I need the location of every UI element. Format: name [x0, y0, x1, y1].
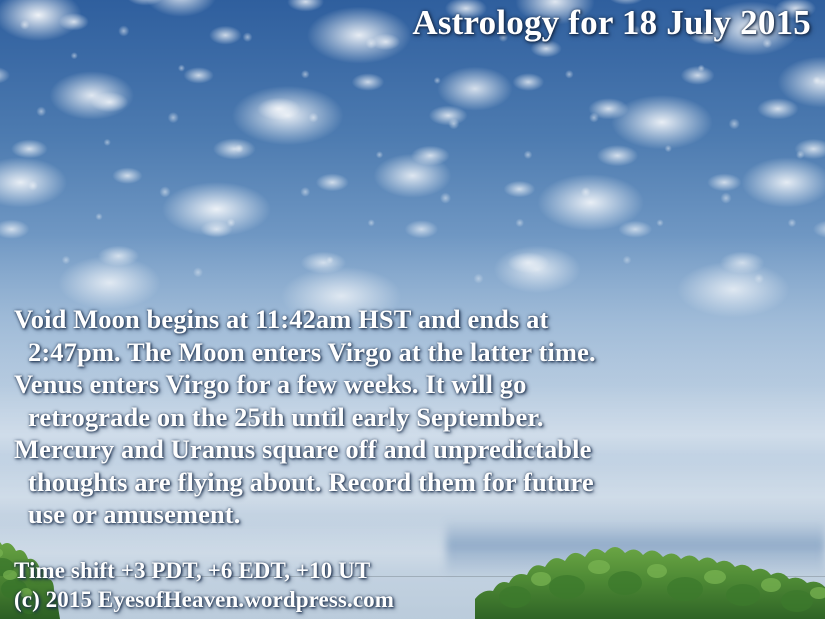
- astrology-poster: Astrology for 18 July 2015 Void Moon beg…: [0, 0, 825, 619]
- tree-right-icon: [475, 527, 825, 619]
- forecast-line: Void Moon begins at 11:42am HST and ends…: [0, 303, 825, 336]
- forecast-line: Mercury and Uranus square off and unpred…: [0, 433, 825, 466]
- footer: Time shift +3 PDT, +6 EDT, +10 UT (c) 20…: [14, 556, 394, 614]
- forecast-body: Void Moon begins at 11:42am HST and ends…: [0, 303, 825, 531]
- forecast-line: retrograde on the 25th until early Septe…: [0, 401, 825, 434]
- page-title: Astrology for 18 July 2015: [412, 3, 811, 43]
- forecast-line: 2:47pm. The Moon enters Virgo at the lat…: [0, 336, 825, 369]
- forecast-line: thoughts are flying about. Record them f…: [0, 466, 825, 499]
- time-shift-note: Time shift +3 PDT, +6 EDT, +10 UT: [14, 556, 394, 585]
- forecast-line: use or amusement.: [0, 498, 825, 531]
- copyright-notice: (c) 2015 EyesofHeaven.wordpress.com: [14, 585, 394, 614]
- forecast-line: Venus enters Virgo for a few weeks. It w…: [0, 368, 825, 401]
